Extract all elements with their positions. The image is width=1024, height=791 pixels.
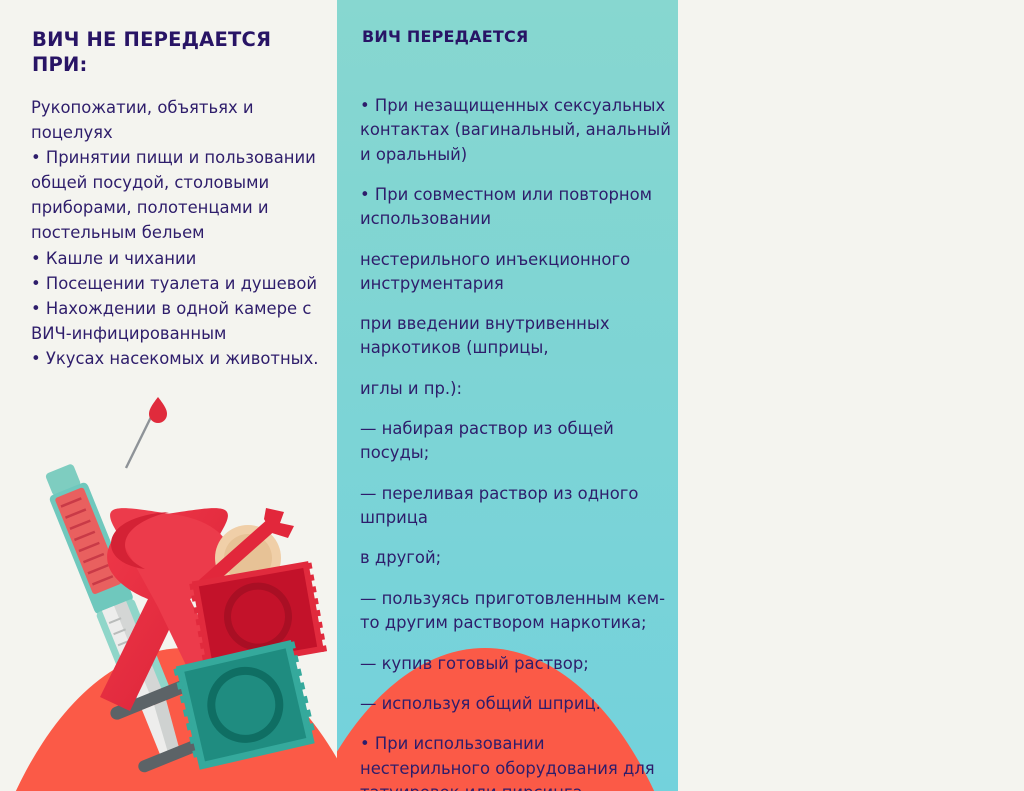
right-panel: ВИЧ — это Вирус Иммунодефицита Человека	[678, 0, 1024, 791]
syringe-ribbon-condoms-illustration	[0, 390, 337, 791]
list-item: • При совместном или повторном использов…	[360, 183, 674, 231]
middle-panel: ВИЧ ПЕРЕДАЕТСЯ • При незащищенных сексуа…	[337, 0, 678, 791]
list-item: в другой;	[360, 546, 674, 570]
list-item: — купив готовый раствор;	[360, 652, 674, 676]
list-item: — набирая раствор из общей посуды;	[360, 417, 674, 465]
list-item: при введении внутривенных наркотиков (шп…	[360, 312, 674, 360]
left-panel: ВИЧ НЕ ПЕРЕДАЕТСЯ ПРИ: Рукопожатии, объя…	[0, 0, 337, 791]
list-item: — переливая раствор из одного шприца	[360, 482, 674, 530]
list-item: Рукопожатии, объятьях и поцелуях	[31, 95, 327, 145]
list-item: • Нахождении в одной камере с ВИЧ-инфици…	[31, 296, 327, 346]
list-item: • При незащищенных сексуальных контактах…	[360, 94, 674, 166]
list-item: • Посещении туалета и душевой	[31, 271, 327, 296]
middle-panel-text: • При незащищенных сексуальных контактах…	[360, 78, 674, 791]
list-item: • Кашле и чихании	[31, 246, 327, 271]
left-panel-heading: ВИЧ НЕ ПЕРЕДАЕТСЯ ПРИ:	[32, 27, 312, 77]
left-panel-text: Рукопожатии, объятьях и поцелуях • Приня…	[31, 95, 327, 371]
list-item: • Принятии пищи и пользовании общей посу…	[31, 145, 327, 245]
list-item: — используя общий шприц.	[360, 692, 674, 716]
list-item: нестерильного инъекционного инструментар…	[360, 248, 674, 296]
syringe-needle	[126, 397, 167, 468]
list-item: • При использовании нестерильного оборуд…	[360, 732, 674, 791]
infographic-poster: ВИЧ НЕ ПЕРЕДАЕТСЯ ПРИ: Рукопожатии, объя…	[0, 0, 1024, 791]
list-item: — пользуясь приготовленным кем-то другим…	[360, 587, 674, 635]
list-item: иглы и пр.):	[360, 377, 674, 401]
middle-panel-heading: ВИЧ ПЕРЕДАЕТСЯ	[362, 27, 662, 46]
list-item: • Укусах насекомых и животных.	[31, 346, 327, 371]
